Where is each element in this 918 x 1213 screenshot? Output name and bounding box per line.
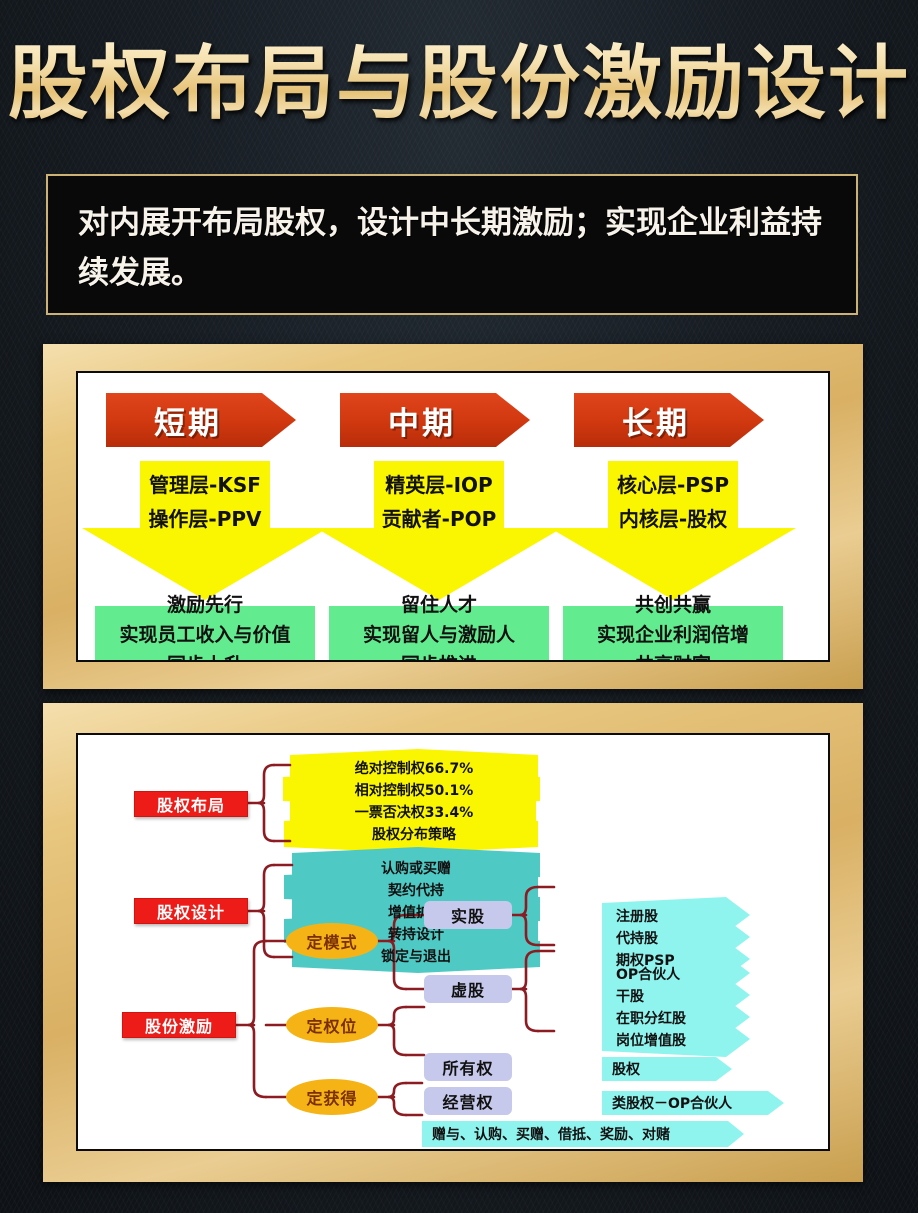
panel1-inner: 短期 管理层-KSF 操作层-PPV 激励先行 实现员工收入与价值 同步上升 中…	[76, 371, 830, 662]
leaf-label: 代持股	[616, 928, 756, 948]
node-label: 定模式	[306, 929, 357, 953]
mindmap-node-equity-design[interactable]: 股权设计	[134, 898, 248, 924]
mindmap-node-share-incentive[interactable]: 股份激励	[122, 1012, 236, 1038]
mindmap-node-real-shares[interactable]: 实股	[424, 901, 512, 929]
leaf-label: 认购或买赠	[292, 858, 540, 878]
node-label: 实股	[451, 903, 485, 927]
phase-item: 内核层-股权	[596, 502, 750, 536]
subtitle-box: 对内展开布局股权，设计中长期激励；实现企业利益持续发展。	[46, 174, 858, 315]
leaf-label: 干股	[616, 986, 756, 1006]
mindmap-node-equity-layout[interactable]: 股权布局	[134, 791, 248, 817]
outcome-box-long: 共创共赢 实现企业利润倍增 共享财富	[563, 606, 783, 662]
node-label: 股权设计	[157, 899, 225, 923]
phase-item: 精英层-IOP	[362, 468, 516, 502]
phase-label-long: 长期	[622, 398, 716, 443]
leaf-label: 类股权－OP合伙人	[602, 1093, 732, 1113]
phase-item: 管理层-KSF	[128, 468, 282, 502]
mindmap-node-virtual-shares[interactable]: 虚股	[424, 975, 512, 1003]
outcome-line: 留住人才	[401, 590, 477, 620]
outcome-line: 同步推进	[401, 650, 477, 662]
mindmap-node-define-acquisition[interactable]: 定获得	[286, 1079, 378, 1115]
node-label: 股份激励	[145, 1013, 213, 1037]
page-title: 股权布局与股份激励设计	[0, 36, 918, 132]
node-label: 定权位	[306, 1013, 357, 1037]
subtitle-text: 对内展开布局股权，设计中长期激励；实现企业利益持续发展。	[78, 198, 838, 298]
outcome-line: 激励先行	[167, 590, 243, 620]
phase-label-short: 短期	[154, 398, 248, 443]
leafgroup-equity-layout: 绝对控制权66.7% 相对控制权50.1% 一票否决权33.4% 股权分布策略	[290, 757, 538, 849]
leaf-label: OP合伙人	[616, 964, 756, 984]
node-label: 经营权	[442, 1089, 493, 1113]
leaf-label: 股权分布策略	[290, 824, 538, 844]
mindmap-node-ownership[interactable]: 所有权	[424, 1053, 512, 1081]
node-label: 定获得	[306, 1085, 357, 1109]
ribbon-management-leaf: 类股权－OP合伙人	[602, 1091, 784, 1115]
node-label: 所有权	[442, 1055, 493, 1079]
phase-items-long: 核心层-PSP 内核层-股权	[596, 468, 750, 536]
panel2-inner: 绝对控制权66.7% 相对控制权50.1% 一票否决权33.4% 股权分布策略 …	[76, 733, 830, 1151]
leafgroup-virtual-shares: OP合伙人 干股 在职分红股 岗位增值股	[616, 963, 756, 1053]
leaf-label: 契约代持	[292, 880, 540, 900]
phase-item: 核心层-PSP	[596, 468, 750, 502]
phase-label-mid: 中期	[388, 398, 482, 443]
mindmap-canvas: 绝对控制权66.7% 相对控制权50.1% 一票否决权33.4% 股权分布策略 …	[78, 735, 830, 1151]
leaf-label: 相对控制权50.1%	[290, 780, 538, 800]
node-label: 虚股	[451, 977, 485, 1001]
panel-equity-mindmap: 绝对控制权66.7% 相对控制权50.1% 一票否决权33.4% 股权分布策略 …	[43, 703, 863, 1182]
leaf-label: 赠与、认购、买赠、借抵、奖励、对赌	[422, 1124, 670, 1144]
phase-arrow-short: 短期	[106, 393, 296, 447]
phase-items-mid: 精英层-IOP 贡献者-POP	[362, 468, 516, 536]
leaf-label: 注册股	[616, 906, 756, 926]
phase-arrow-long: 长期	[574, 393, 764, 447]
leaf-label: 在职分红股	[616, 1008, 756, 1028]
node-label: 股权布局	[157, 792, 225, 816]
outcome-line: 共享财富	[635, 650, 711, 662]
phase-arrow-mid: 中期	[340, 393, 530, 447]
outcome-line: 实现企业利润倍增	[597, 620, 749, 650]
phase-item: 贡献者-POP	[362, 502, 516, 536]
outcome-box-short: 激励先行 实现员工收入与价值 同步上升	[95, 606, 315, 662]
bottom-rule	[288, 1149, 640, 1151]
leaf-label: 岗位增值股	[616, 1030, 756, 1050]
leaf-label: 绝对控制权66.7%	[290, 758, 538, 778]
outcome-line: 实现员工收入与价值	[119, 620, 290, 650]
ribbon-acquisition-leaf: 赠与、认购、买赠、借抵、奖励、对赌	[422, 1121, 744, 1147]
phase-item: 操作层-PPV	[128, 502, 282, 536]
mindmap-node-define-mode[interactable]: 定模式	[286, 923, 378, 959]
leaf-label: 股权	[602, 1059, 640, 1079]
poster-stage: 股权布局与股份激励设计 对内展开布局股权，设计中长期激励；实现企业利益持续发展。…	[0, 0, 918, 1213]
leaf-label: 一票否决权33.4%	[290, 802, 538, 822]
outcome-box-mid: 留住人才 实现留人与激励人 同步推进	[329, 606, 549, 662]
outcome-line: 同步上升	[167, 650, 243, 662]
ribbon-ownership-leaf: 股权	[602, 1057, 732, 1081]
mindmap-node-management-right[interactable]: 经营权	[424, 1087, 512, 1115]
mindmap-node-define-rights[interactable]: 定权位	[286, 1007, 378, 1043]
phase-items-short: 管理层-KSF 操作层-PPV	[128, 468, 282, 536]
panel-incentive-timeline: 短期 管理层-KSF 操作层-PPV 激励先行 实现员工收入与价值 同步上升 中…	[43, 344, 863, 689]
outcome-line: 共创共赢	[635, 590, 711, 620]
outcome-line: 实现留人与激励人	[363, 620, 515, 650]
